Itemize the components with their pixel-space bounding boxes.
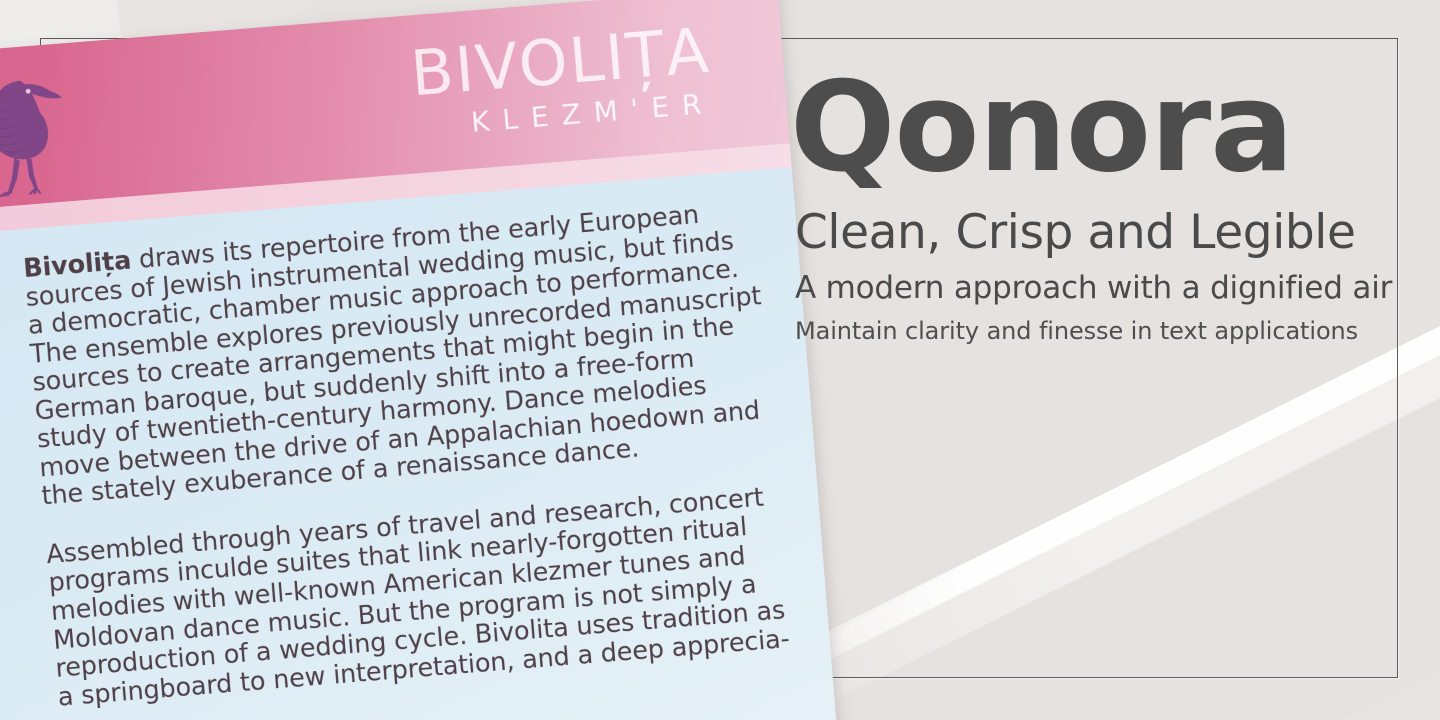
card-paragraph-2: Assembled through years of travel and re… (45, 483, 778, 712)
specimen-poster: BIVOLIȚA KLEZM'ER Bivolița draws its rep… (0, 0, 1440, 720)
brochure-card: BIVOLIȚA KLEZM'ER Bivolița draws its rep… (0, 0, 849, 720)
brand-lockup: BIVOLIȚA KLEZM'ER (408, 20, 715, 142)
quail-bird-icon (0, 71, 75, 198)
font-display-name: Qonora (790, 66, 1400, 190)
specimen-text-block: Qonora Clean, Crisp and Legible A modern… (790, 66, 1400, 345)
font-tagline-secondary: A modern approach with a dignified air (795, 271, 1400, 305)
font-tagline-tertiary: Maintain clarity and finesse in text app… (795, 318, 1400, 344)
font-tagline-primary: Clean, Crisp and Legible (795, 208, 1400, 257)
card-body: Bivolița draws its repertoire from the e… (0, 167, 849, 720)
card-paragraph-1: Bivolița draws its repertoire from the e… (22, 197, 762, 511)
